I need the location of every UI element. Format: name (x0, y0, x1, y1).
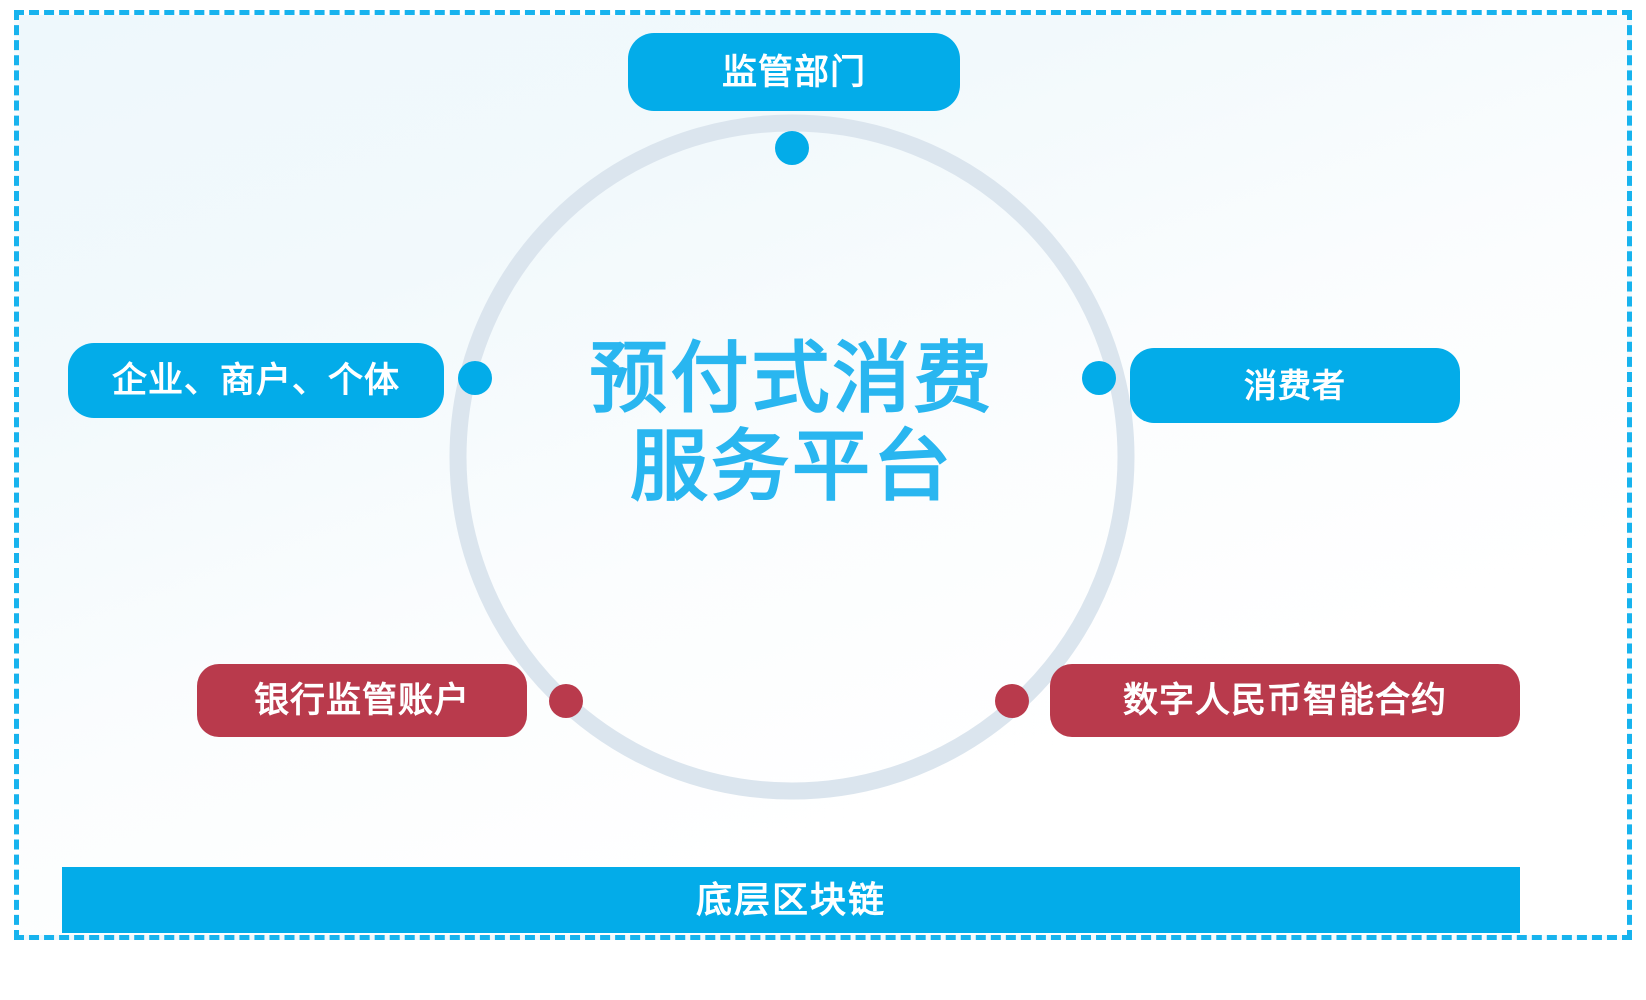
foundation-blockchain-label: 底层区块链 (696, 882, 886, 918)
node-pill-consumer[interactable]: 消费者 (1130, 348, 1460, 423)
center-label-line-2: 服务平台 (492, 422, 1092, 510)
node-pill-smart-contract-label: 数字人民币智能合约 (1123, 683, 1447, 718)
node-pill-consumer-label: 消费者 (1244, 369, 1346, 402)
foundation-blockchain-bar[interactable]: 底层区块链 (62, 867, 1520, 933)
node-pill-bank-account[interactable]: 银行监管账户 (197, 664, 527, 737)
node-pill-bank-account-label: 银行监管账户 (254, 683, 470, 718)
diagram-canvas: 预付式消费 服务平台 监管部门 企业、商户、个体 消费者 银行监管账户 数字人民… (0, 0, 1646, 1000)
node-pill-smart-contract[interactable]: 数字人民币智能合约 (1050, 664, 1520, 737)
node-pill-enterprise[interactable]: 企业、商户、个体 (68, 343, 444, 418)
center-label-line-1: 预付式消费 (492, 334, 1092, 422)
node-pill-enterprise-label: 企业、商户、个体 (112, 363, 400, 398)
node-pill-regulator[interactable]: 监管部门 (628, 33, 960, 111)
center-platform-label: 预付式消费 服务平台 (492, 334, 1092, 510)
node-pill-regulator-label: 监管部门 (722, 55, 866, 90)
